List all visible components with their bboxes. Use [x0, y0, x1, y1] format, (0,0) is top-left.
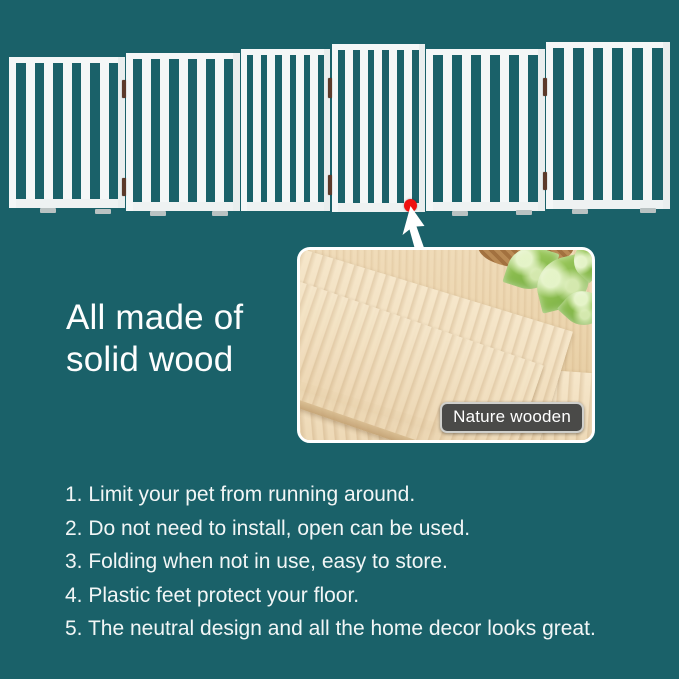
gate-foot [640, 208, 656, 213]
gate-panel-3 [241, 49, 330, 211]
product-infographic: All made of solid wood [0, 0, 679, 679]
gate-foot [150, 211, 166, 216]
gate-foot [452, 211, 468, 216]
list-item: 1. Limit your pet from running around. [65, 478, 665, 512]
gate-panel-4 [332, 44, 425, 212]
gate-hinge [328, 78, 332, 98]
gate-hinge [122, 178, 126, 196]
page-title: All made of solid wood [66, 297, 326, 381]
gate-hinge [543, 172, 547, 190]
gate-hinge [122, 80, 126, 98]
wood-detail-card: Nature wooden [297, 247, 595, 443]
gate-hinge [328, 175, 332, 195]
feature-list: 1. Limit your pet from running around. 2… [65, 478, 665, 646]
gate-foot [95, 209, 111, 214]
headline-line-1: All made of [66, 297, 326, 339]
gate-hinge [543, 78, 547, 96]
list-item: 3. Folding when not in use, easy to stor… [65, 545, 665, 579]
wood-badge: Nature wooden [440, 402, 584, 433]
gate-foot [212, 211, 228, 216]
list-item: 2. Do not need to install, open can be u… [65, 512, 665, 546]
gate-panel-1 [9, 57, 125, 208]
gate-panel-6 [546, 42, 670, 209]
gate-foot [516, 210, 532, 215]
gate-foot [572, 209, 588, 214]
headline-line-2: solid wood [66, 339, 326, 381]
gate-panel-2 [126, 53, 240, 211]
gate-foot [40, 208, 56, 213]
pet-gate-illustration [0, 0, 679, 235]
list-item: 4. Plastic feet protect your floor. [65, 579, 665, 613]
list-item: 5. The neutral design and all the home d… [65, 612, 665, 646]
gate-panel-5 [426, 49, 545, 211]
